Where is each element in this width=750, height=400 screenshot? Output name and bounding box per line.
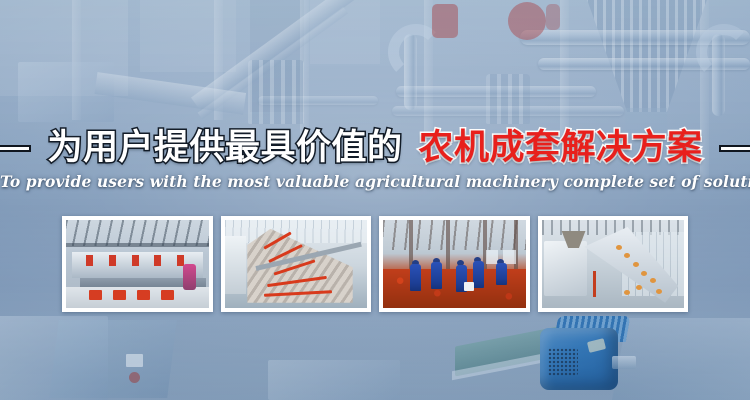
background-factory-scene [0,0,750,400]
headline-row: 为用户提供最具价值的 农机成套解决方案 [0,124,750,172]
thumbnail-image [66,220,209,308]
subtitle-english: To provide users with the most valuable … [0,172,750,191]
thumbnail-image [225,220,368,308]
promo-banner: 为用户提供最具价值的 农机成套解决方案 To provide users wit… [0,0,750,400]
headline-white-text: 为用户提供最具价值的 [47,131,402,166]
thumbnail-workers-chili-drying[interactable] [379,216,530,312]
thumbnail-image [542,220,685,308]
thumbnail-strip [62,216,688,312]
headline-red-text: 农机成套解决方案 [419,131,703,166]
thumbnail-elevator-conveyor-produce[interactable] [538,216,689,312]
right-dash-ornament [719,145,750,152]
thumbnail-factory-production-line[interactable] [62,216,213,312]
thumbnail-inclined-conveyor[interactable] [221,216,372,312]
thumbnail-image [383,220,526,308]
left-dash-ornament [0,145,31,152]
background-light-vignette [0,0,750,400]
